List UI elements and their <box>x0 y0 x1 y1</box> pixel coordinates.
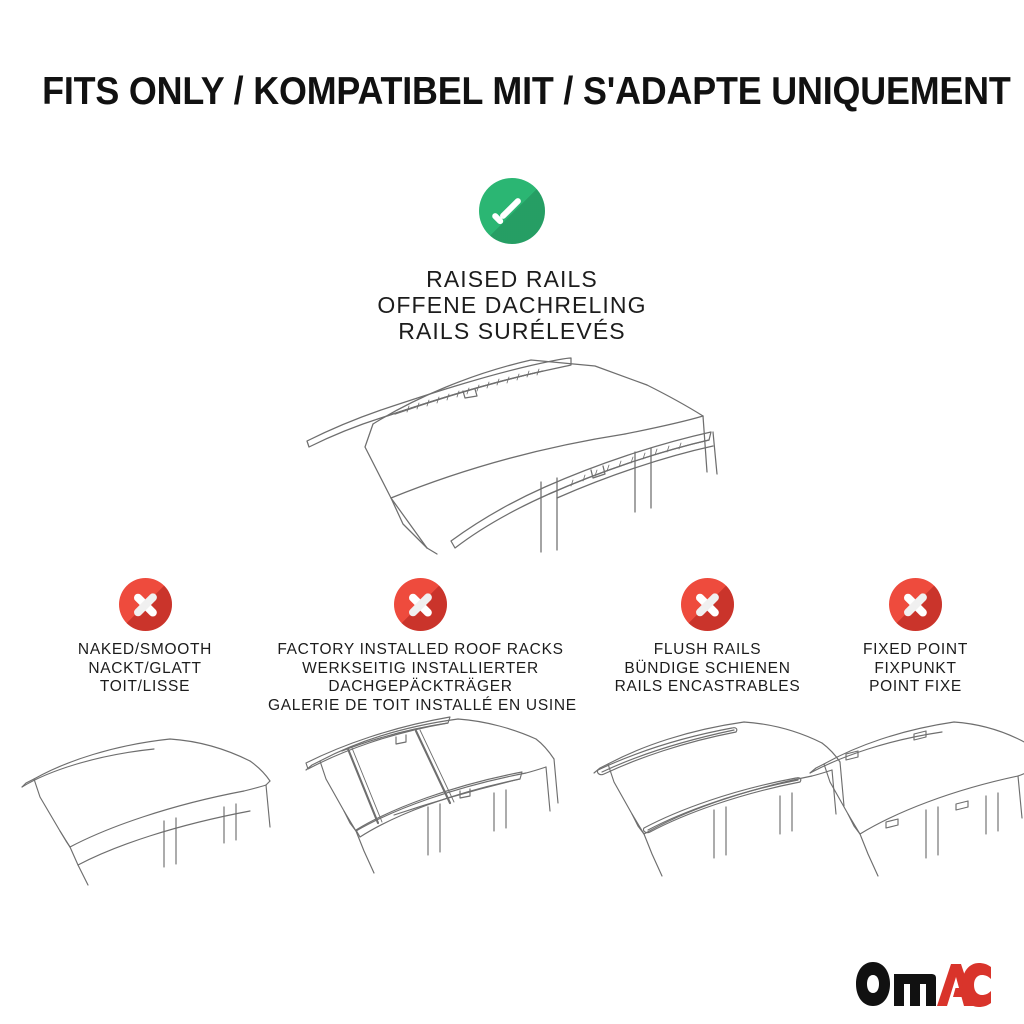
caption-line-fr: POINT FIXE <box>828 678 1003 697</box>
compatible-line-de: OFFENE DACHRELING <box>0 292 1024 318</box>
x-glyph <box>119 578 172 631</box>
compatible-badge-wrap <box>0 178 1024 244</box>
check-glyph <box>479 178 545 244</box>
caption-line-de: NACKT/GLATT <box>20 660 270 679</box>
naked-smooth-roof-illustration <box>4 735 279 895</box>
green-check-badge-icon <box>479 178 545 244</box>
caption-line-de-2: DACHGEPÄCKTRÄGER <box>268 678 573 697</box>
column-caption: NAKED/SMOOTH NACKT/GLATT TOIT/LISSE <box>20 641 270 697</box>
red-x-badge-icon <box>119 578 172 631</box>
page-title: FITS ONLY / KOMPATIBEL MIT / S'ADAPTE UN… <box>42 72 1011 111</box>
incompatible-columns: NAKED/SMOOTH NACKT/GLATT TOIT/LISSE FACT… <box>0 578 1024 718</box>
caption-line-de: FIXPUNKT <box>828 660 1003 679</box>
incompatible-column-fixed-point: FIXED POINT FIXPUNKT POINT FIXE <box>828 578 1003 697</box>
column-caption: FLUSH RAILS BÜNDIGE SCHIENEN RAILS ENCAS… <box>585 641 830 697</box>
logo-letter-m <box>894 974 936 1006</box>
caption-line-en: FACTORY INSTALLED ROOF RACKS <box>268 641 573 660</box>
caption-line-de: BÜNDIGE SCHIENEN <box>585 660 830 679</box>
compatible-block: RAISED RAILS OFFENE DACHRELING RAILS SUR… <box>0 178 1024 344</box>
incompatible-column-factory-racks: FACTORY INSTALLED ROOF RACKS WERKSEITIG … <box>268 578 573 715</box>
caption-line-en: NAKED/SMOOTH <box>20 641 270 660</box>
caption-line-en: FLUSH RAILS <box>585 641 830 660</box>
x-glyph <box>681 578 734 631</box>
caption-line-fr: TOIT/LISSE <box>20 678 270 697</box>
x-glyph <box>394 578 447 631</box>
red-x-badge-icon <box>394 578 447 631</box>
header: FITS ONLY / KOMPATIBEL MIT / S'ADAPTE UN… <box>0 72 1024 111</box>
compatible-line-fr: RAILS SURÉLEVÉS <box>0 318 1024 344</box>
incompatible-column-naked-smooth: NAKED/SMOOTH NACKT/GLATT TOIT/LISSE <box>20 578 270 697</box>
caption-line-de-1: WERKSEITIG INSTALLIERTER <box>268 660 573 679</box>
fitment-infographic: FITS ONLY / KOMPATIBEL MIT / S'ADAPTE UN… <box>0 0 1024 1024</box>
factory-racks-roof-illustration <box>282 715 582 895</box>
column-caption: FIXED POINT FIXPUNKT POINT FIXE <box>828 641 1003 697</box>
fixed-point-roof-illustration <box>792 718 1024 896</box>
caption-line-fr: RAILS ENCASTRABLES <box>585 678 830 697</box>
red-x-badge-icon <box>889 578 942 631</box>
raised-rails-roof-illustration <box>295 352 735 557</box>
omac-logo <box>853 960 993 1010</box>
column-caption: FACTORY INSTALLED ROOF RACKS WERKSEITIG … <box>268 641 573 715</box>
logo-letter-o <box>856 962 890 1006</box>
compatible-line-en: RAISED RAILS <box>0 266 1024 292</box>
x-glyph <box>889 578 942 631</box>
caption-line-en: FIXED POINT <box>828 641 1003 660</box>
red-x-badge-icon <box>681 578 734 631</box>
compatible-caption: RAISED RAILS OFFENE DACHRELING RAILS SUR… <box>0 266 1024 344</box>
caption-line-fr: GALERIE DE TOIT INSTALLÉ EN USINE <box>268 697 573 716</box>
incompatible-column-flush-rails: FLUSH RAILS BÜNDIGE SCHIENEN RAILS ENCAS… <box>585 578 830 697</box>
